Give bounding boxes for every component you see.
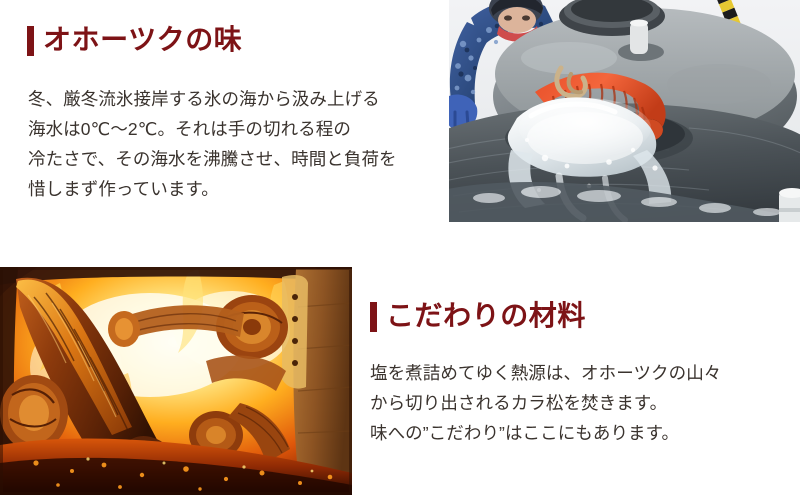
body-line: から切り出されるカラ松を焚きます。 — [370, 388, 721, 418]
body-line: 海水は0℃〜2℃。それは手の切れる程の — [28, 114, 397, 144]
heading-accent-bar — [27, 26, 34, 56]
section-heading-ohotsuku: オホーツクの味 — [27, 26, 242, 56]
section-heading-kodawari: こだわりの材料 — [370, 302, 586, 332]
body-line: 冷たさで、その海水を沸騰させ、時間と負荷を — [28, 144, 397, 174]
section-body-ohotsuku: 冬、厳冬流氷接岸する氷の海から汲み上げる 海水は0℃〜2℃。それは手の切れる程の… — [28, 84, 397, 204]
white-pipe — [779, 188, 800, 222]
body-line: 味への”こだわり”はここにもあります。 — [370, 418, 721, 448]
seawater-pumping-photo — [449, 0, 800, 222]
section-heading-kodawari-text: こだわりの材料 — [386, 303, 586, 331]
body-line: 冬、厳冬流氷接岸する氷の海から汲み上げる — [28, 84, 397, 114]
promo-page: オホーツクの味 冬、厳冬流氷接岸する氷の海から汲み上げる 海水は0℃〜2℃。それ… — [0, 0, 800, 495]
furnace-fire-illustration — [0, 267, 352, 495]
body-line: 塩を煮詰めてゆく熱源は、オホーツクの山々 — [370, 358, 721, 388]
section-heading-ohotsuku-text: オホーツクの味 — [43, 27, 242, 55]
body-line: 惜しまず作っています。 — [28, 174, 397, 204]
seawater-pumping-illustration — [449, 0, 800, 222]
heading-accent-bar — [370, 302, 377, 332]
furnace-fire-photo — [0, 267, 352, 495]
section-body-kodawari: 塩を煮詰めてゆく熱源は、オホーツクの山々 から切り出されるカラ松を焚きます。 味… — [370, 358, 721, 448]
